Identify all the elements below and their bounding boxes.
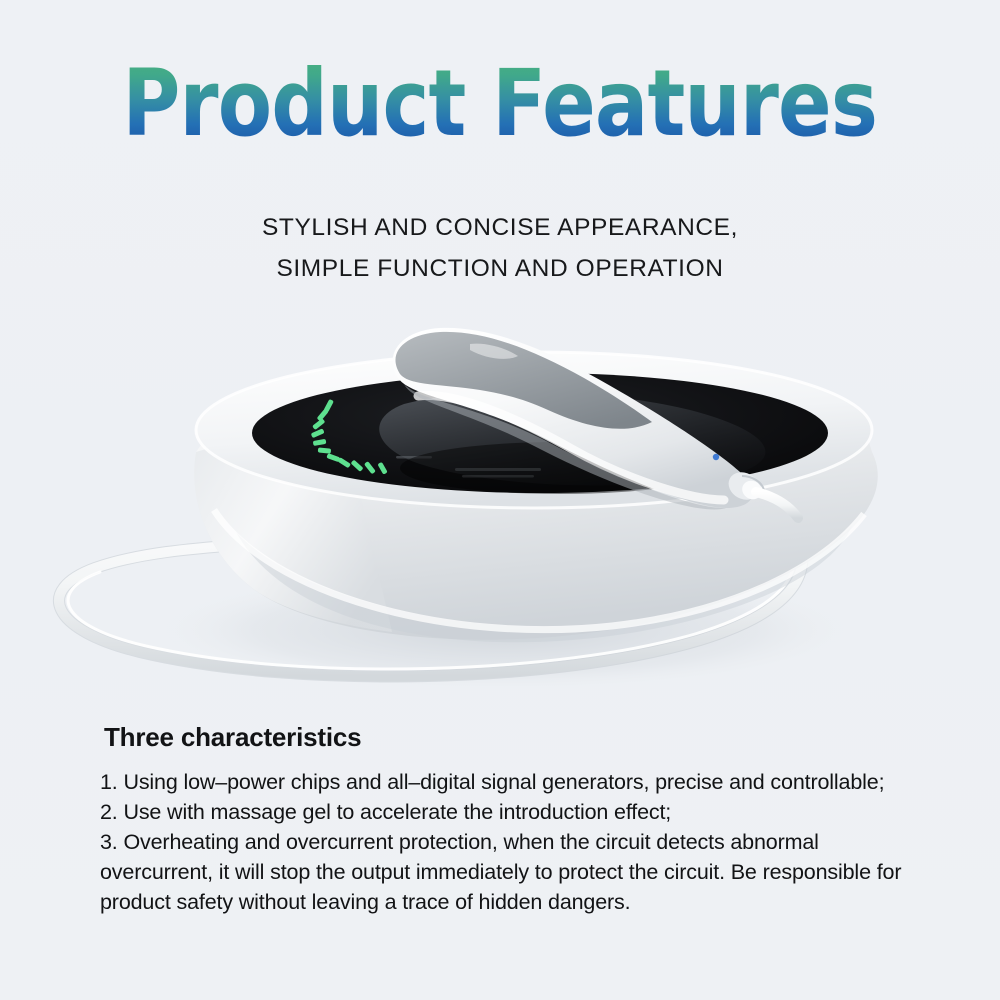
characteristic-item-3: 3. Overheating and overcurrent protectio… (100, 827, 930, 917)
characteristics-section: Three characteristics 1. Using low–power… (100, 722, 930, 917)
page-subtitle: STYLISH AND CONCISE APPEARANCE, SIMPLE F… (0, 207, 1000, 289)
characteristics-heading: Three characteristics (104, 722, 930, 753)
product-features-page: Product Features STYLISH AND CONCISE APP… (0, 0, 1000, 1000)
characteristic-item-2: 2. Use with massage gel to accelerate th… (100, 797, 930, 827)
product-illustration (0, 300, 1000, 710)
product-image (0, 300, 1000, 710)
characteristic-item-1: 1. Using low–power chips and all–digital… (100, 767, 930, 797)
subtitle-line-1: STYLISH AND CONCISE APPEARANCE, (0, 207, 1000, 248)
page-title-container: Product Features (0, 58, 1000, 150)
subtitle-line-2: SIMPLE FUNCTION AND OPERATION (0, 248, 1000, 289)
page-title: Product Features (123, 58, 878, 150)
status-indicator-dot (713, 454, 719, 460)
